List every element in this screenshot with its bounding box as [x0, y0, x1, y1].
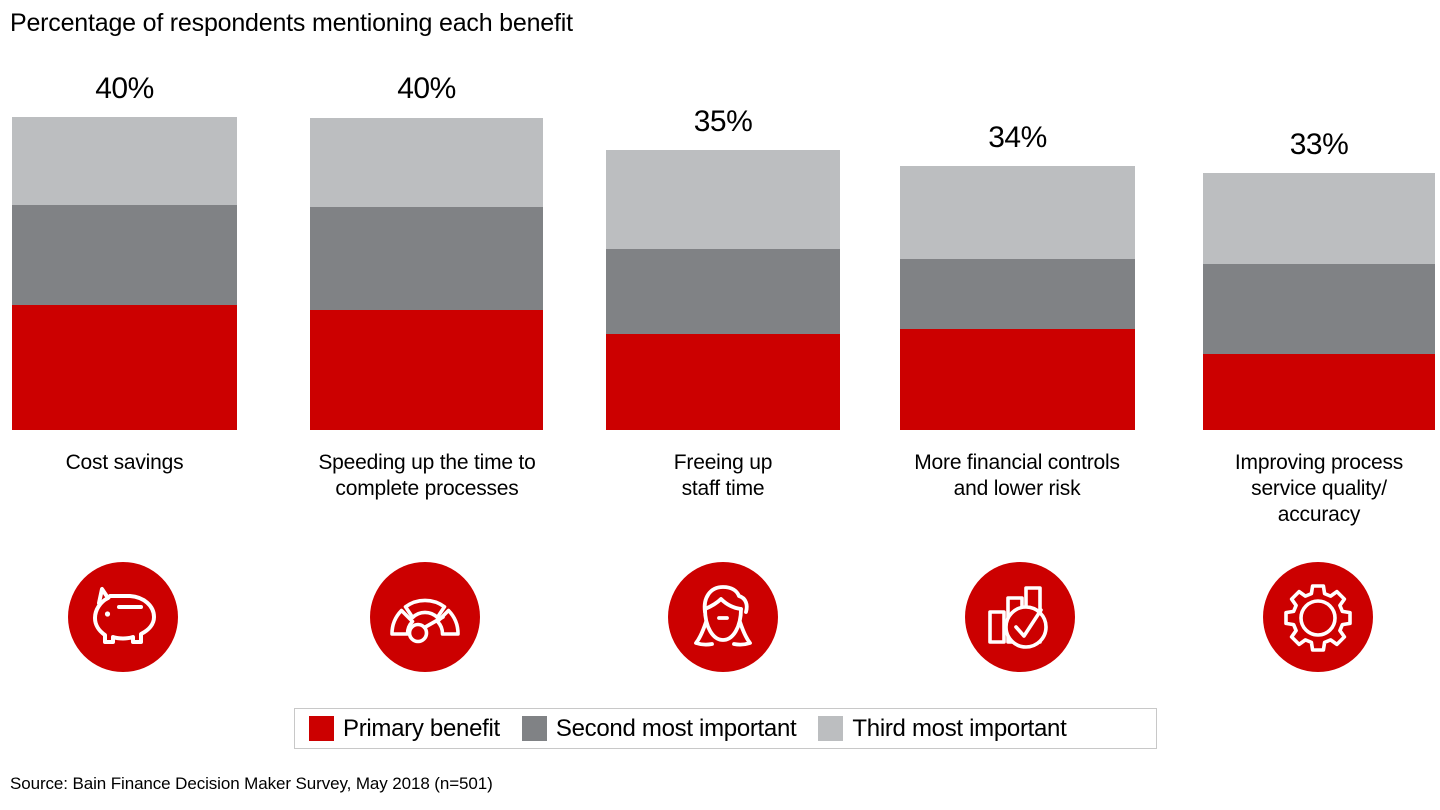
category-label-4: More financial controls and lower risk	[872, 450, 1162, 502]
legend-item-third[interactable]: Third most important	[818, 715, 1066, 743]
segment-third-1[interactable]	[12, 117, 237, 205]
category-label-5-line-1: Improving process	[1175, 450, 1440, 476]
bar-value-label-4: 34%	[900, 121, 1135, 155]
bar-value-label-3: 35%	[606, 105, 840, 139]
category-label-4-line-2: and lower risk	[872, 476, 1162, 502]
legend-swatch-second	[522, 716, 547, 741]
segment-second-2[interactable]	[310, 207, 543, 310]
segment-third-5[interactable]	[1203, 173, 1435, 264]
segment-second-4[interactable]	[900, 259, 1135, 329]
category-label-3: Freeing up staff time	[578, 450, 868, 502]
speedometer-icon	[387, 587, 463, 647]
source-note: Source: Bain Finance Decision Maker Surv…	[10, 773, 493, 794]
icon-badge-2[interactable]	[370, 562, 480, 672]
legend-label-primary: Primary benefit	[343, 715, 500, 743]
plot-area: 40% 40% 35%	[0, 0, 1440, 440]
segment-second-3[interactable]	[606, 249, 840, 334]
category-label-2-line-1: Speeding up the time to	[277, 450, 577, 476]
chart-page: Percentage of respondents mentioning eac…	[0, 0, 1440, 810]
bar-value-label-1: 40%	[12, 72, 237, 106]
category-label-1-line-1: Cost savings	[0, 450, 267, 476]
legend-item-primary[interactable]: Primary benefit	[309, 715, 500, 743]
icon-badge-5[interactable]	[1263, 562, 1373, 672]
category-label-5: Improving process service quality/ accur…	[1175, 450, 1440, 528]
icon-badge-1[interactable]	[68, 562, 178, 672]
segment-third-4[interactable]	[900, 166, 1135, 259]
gear-icon	[1283, 582, 1353, 652]
person-icon	[690, 582, 756, 652]
segment-primary-2[interactable]	[310, 310, 543, 430]
category-label-5-line-3: accuracy	[1175, 502, 1440, 528]
segment-third-2[interactable]	[310, 118, 543, 207]
legend-swatch-third	[818, 716, 843, 741]
bar-chart-check-icon	[985, 584, 1055, 650]
category-label-2: Speeding up the time to complete process…	[277, 450, 577, 502]
bar-value-label-2: 40%	[310, 72, 543, 106]
legend-label-second: Second most important	[556, 715, 797, 743]
bar-stack-2	[310, 118, 543, 430]
category-label-3-line-2: staff time	[578, 476, 868, 502]
category-label-3-line-1: Freeing up	[578, 450, 868, 476]
legend: Primary benefit Second most important Th…	[294, 708, 1157, 749]
category-label-2-line-2: complete processes	[277, 476, 577, 502]
piggy-bank-icon	[86, 585, 160, 649]
bar-stack-3	[606, 150, 840, 430]
segment-second-1[interactable]	[12, 205, 237, 305]
bar-stack-4	[900, 166, 1135, 430]
segment-primary-4[interactable]	[900, 329, 1135, 430]
bar-value-label-5: 33%	[1203, 128, 1435, 162]
segment-primary-5[interactable]	[1203, 354, 1435, 430]
legend-swatch-primary	[309, 716, 334, 741]
category-label-4-line-1: More financial controls	[872, 450, 1162, 476]
segment-third-3[interactable]	[606, 150, 840, 249]
icon-badge-4[interactable]	[965, 562, 1075, 672]
legend-label-third: Third most important	[852, 715, 1066, 743]
segment-primary-1[interactable]	[12, 305, 237, 430]
bar-stack-1	[12, 117, 237, 430]
category-label-5-line-2: service quality/	[1175, 476, 1440, 502]
segment-second-5[interactable]	[1203, 264, 1435, 354]
segment-primary-3[interactable]	[606, 334, 840, 430]
bar-stack-5	[1203, 173, 1435, 430]
category-label-1: Cost savings	[0, 450, 267, 476]
legend-item-second[interactable]: Second most important	[522, 715, 797, 743]
icon-badge-3[interactable]	[668, 562, 778, 672]
